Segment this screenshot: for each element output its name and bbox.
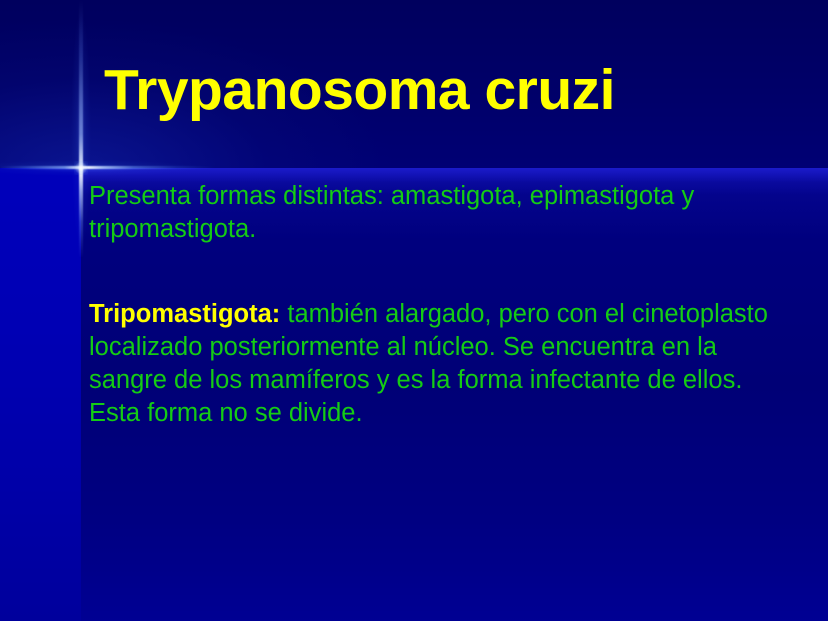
paragraph-tripomastigota: Tripomastigota: también alargado, pero c…	[89, 298, 781, 430]
paragraph-intro: Presenta formas distintas: amastigota, e…	[89, 180, 781, 246]
presentation-slide: Trypanosoma cruzi Presenta formas distin…	[0, 0, 828, 621]
background-bottom-left-column	[0, 168, 81, 621]
slide-body: Presenta formas distintas: amastigota, e…	[89, 180, 781, 430]
light-cross-horizontal-beam-icon	[0, 166, 215, 169]
paragraph-keyword-tripomastigota: Tripomastigota	[89, 300, 272, 328]
light-cross-horizontal-glow	[0, 158, 230, 178]
paragraph-keyword-colon: :	[272, 300, 281, 328]
light-cross-vertical-beam-icon	[79, 0, 83, 258]
light-cross-core-icon	[74, 161, 88, 175]
slide-title: Trypanosoma cruzi	[104, 62, 615, 119]
